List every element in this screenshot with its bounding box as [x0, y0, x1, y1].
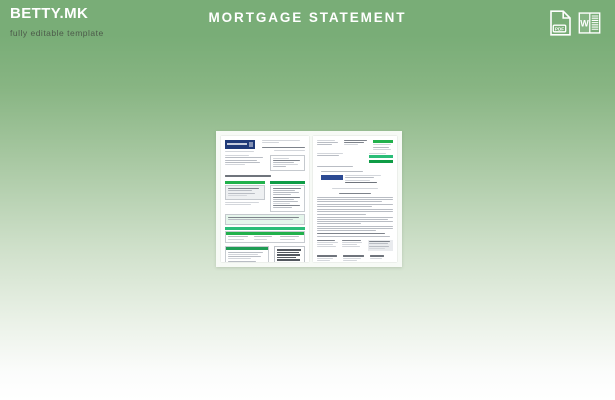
file-type-icons: PDF PDF W W — [549, 10, 601, 36]
document-page-2[interactable] — [313, 136, 397, 262]
pdf-file-icon[interactable]: PDF PDF — [549, 10, 572, 36]
svg-text:PDF: PDF — [555, 26, 564, 31]
page-title: MORTGAGE STATEMENT — [0, 10, 615, 25]
mortgage-statement-template-preview[interactable] — [216, 131, 402, 267]
brand-tagline: fully editable template — [10, 29, 104, 38]
lender-logo — [225, 140, 255, 149]
word-file-icon-label: W — [578, 36, 579, 37]
statement-badge — [321, 175, 343, 180]
word-file-icon[interactable]: W W — [578, 10, 601, 36]
document-page-1[interactable] — [221, 136, 309, 262]
pdf-file-icon-label: PDF — [549, 36, 550, 37]
svg-text:W: W — [580, 18, 589, 28]
